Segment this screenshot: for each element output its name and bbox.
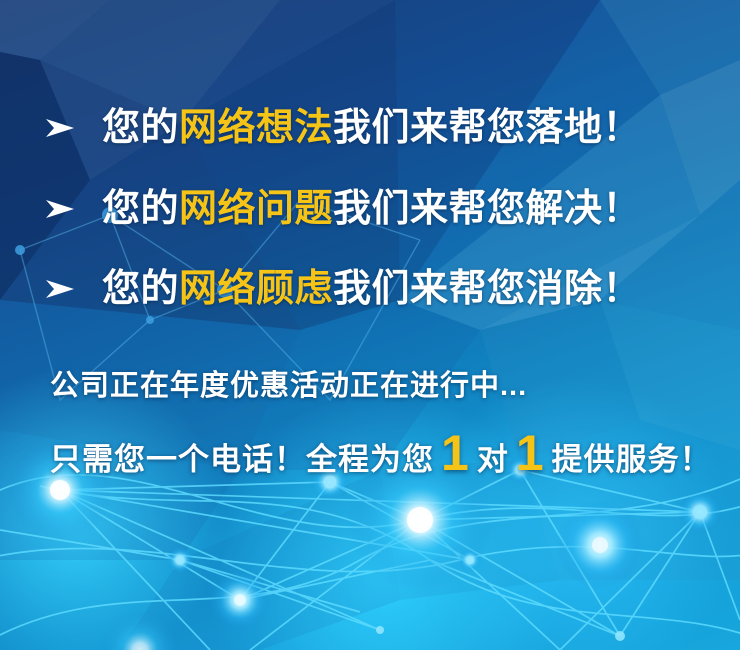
arrow-right-icon (40, 108, 80, 148)
bullet-1-suffix: 我们来帮您落地！ (333, 107, 641, 149)
bullet-1-accent: 网络想法 (179, 107, 333, 149)
bullet-line-3-text: 您的网络顾虑我们来帮您消除！ (102, 266, 641, 312)
bullet-2-suffix: 我们来帮您解决！ (333, 188, 641, 230)
bullet-3-prefix: 您的 (102, 268, 179, 310)
bullet-line-2: 您的网络问题我们来帮您解决！ (40, 186, 641, 232)
bullet-line-1: 您的网络想法我们来帮您落地！ (40, 105, 641, 151)
service-number-one-first: 1 (434, 428, 477, 478)
service-text: 只需您一个电话！全程为您 1 对 1 提供服务！ (50, 428, 712, 479)
bullet-line-1-text: 您的网络想法我们来帮您落地！ (102, 105, 641, 151)
bullet-3-accent: 网络顾虑 (179, 268, 333, 310)
promo-text: 公司正在年度优惠活动正在进行中... (50, 362, 527, 404)
arrow-right-icon (40, 269, 80, 309)
bullet-1-prefix: 您的 (102, 107, 179, 149)
arrow-right-icon (40, 189, 80, 229)
service-text-part1: 只需您一个电话！全程为您 (50, 434, 434, 479)
bullet-line-2-text: 您的网络问题我们来帮您解决！ (102, 186, 641, 232)
bullet-2-accent: 网络问题 (179, 188, 333, 230)
service-number-one-second: 1 (509, 428, 552, 478)
bullet-3-suffix: 我们来帮您消除！ (333, 268, 641, 310)
service-text-middle: 对 (477, 434, 509, 479)
bullet-line-3: 您的网络顾虑我们来帮您消除！ (40, 266, 641, 312)
bullet-2-prefix: 您的 (102, 188, 179, 230)
service-text-part2: 提供服务！ (552, 434, 712, 479)
promo-banner: 您的网络想法我们来帮您落地！ 您的网络问题我们来帮您解决！ 您的网络顾虑我们来帮… (0, 0, 740, 650)
